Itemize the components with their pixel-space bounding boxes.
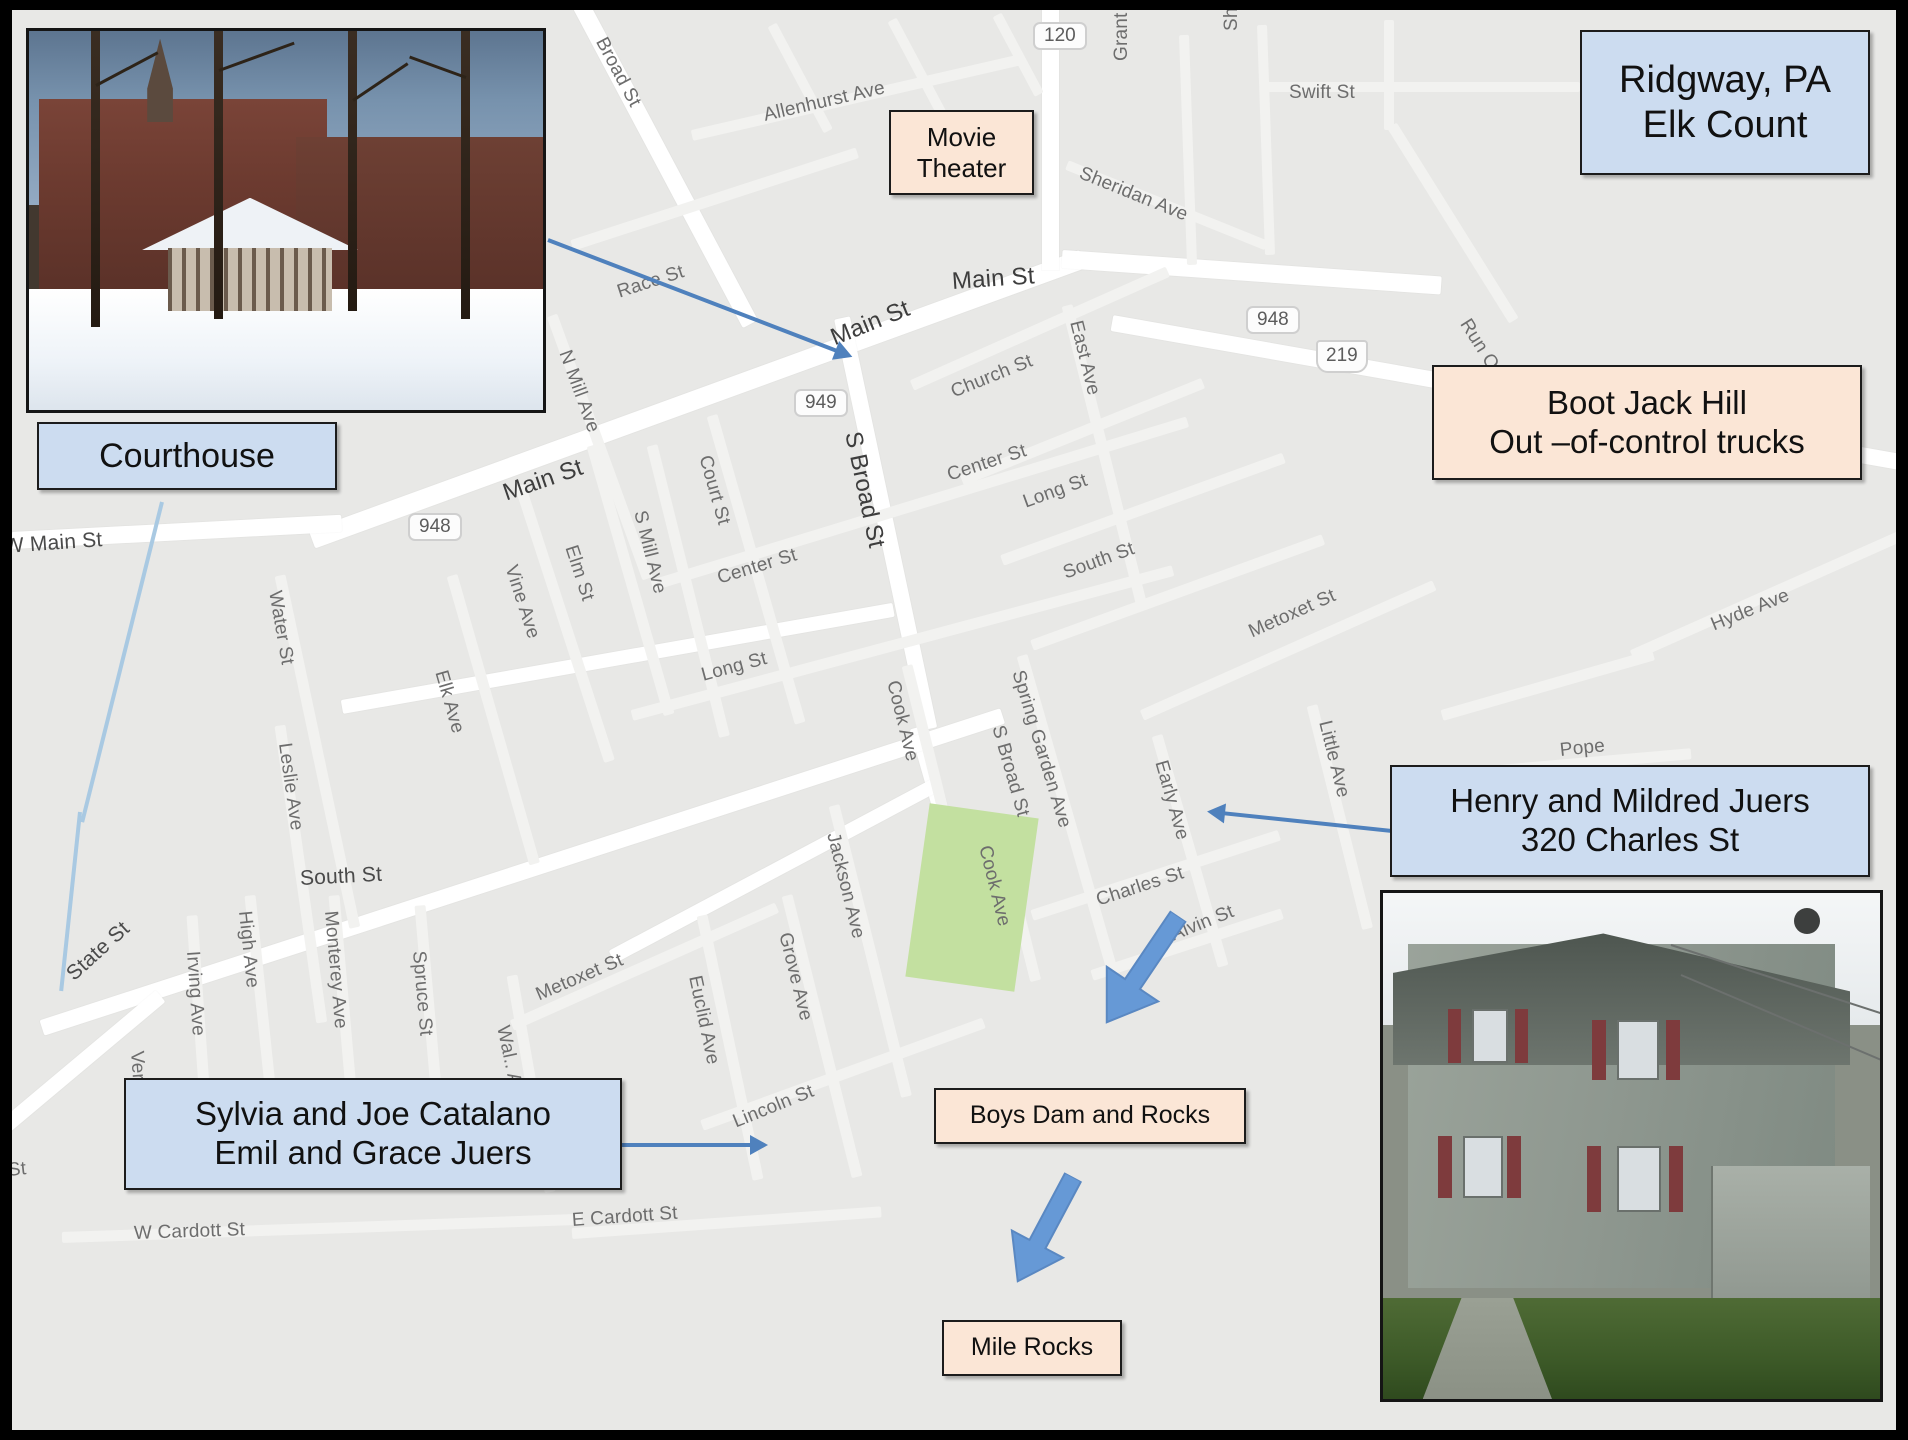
callout-mile-rocks[interactable]: Mile Rocks [942,1320,1122,1376]
callout-movie-theater[interactable]: Movie Theater [889,110,1034,195]
park-green-block [905,803,1038,992]
road-sherman-ave [1257,25,1275,255]
road-run-off-rd [1387,123,1518,324]
road-grove-ave [782,894,863,1178]
photo-house-shutter-6 [1507,1136,1521,1198]
photo-house-shutter-5 [1438,1136,1452,1198]
street-label-elm-st: Elm St [560,543,599,604]
photo-house-shutter-1 [1448,1009,1461,1063]
road-metoxet-st-east [1140,580,1437,720]
route-shield-949: 949 [794,389,848,417]
photo-house-window-lower-left [1463,1136,1503,1198]
street-label-long-st-1: Long St [1020,470,1090,514]
callout-catalano-line2: Emil and Grace Juers [214,1134,531,1173]
street-label-sherman-ave: Sherman Ave [1221,10,1243,31]
photo-house-porch [1711,1166,1870,1318]
callout-catalano-juers[interactable]: Sylvia and Joe Catalano Emil and Grace J… [124,1078,622,1190]
callout-juers-line2: 320 Charles St [1521,821,1739,860]
callout-courthouse[interactable]: Courthouse [37,422,337,490]
photo-courthouse-tree-1 [91,31,100,327]
road-south-state-corridor [40,708,1006,1035]
road-race-st [570,148,859,251]
callout-boot-jack-line1: Boot Jack Hill [1547,384,1747,423]
photo-house-window-upper-right [1617,1020,1659,1080]
road-spring-garden-ave [1017,654,1119,974]
road-swift-branch [1384,20,1394,130]
road-elk-ave [447,574,540,865]
photo-courthouse[interactable] [26,28,546,413]
road-n-broad-st [564,10,757,328]
road-long-connector-2 [609,777,942,963]
photo-courthouse-tree-2 [214,31,223,319]
arrow-courthouse-to-map [547,238,838,353]
arrow-to-mile-rocks [988,1162,1103,1299]
road-top-block-b [888,18,948,120]
photo-house-shutter-7 [1587,1146,1601,1212]
photo-house-window-upper-left [1472,1009,1508,1063]
street-label-vine-ave: Vine Ave [500,563,544,642]
road-vine-ave [515,484,615,763]
photo-house-shutter-3 [1592,1020,1606,1080]
photo-house-window-lower-right [1617,1146,1661,1212]
callout-juers-line1: Henry and Mildred Juers [1450,782,1810,821]
photo-house-shutter-4 [1666,1020,1680,1080]
road-w-cardott-st [62,1214,582,1243]
road-little-ave [1307,704,1373,930]
route-shield-120: 120 [1033,22,1087,50]
road-hyde-ave-west [1440,650,1655,721]
photo-courthouse-tree-3 [348,31,357,311]
river-line [80,502,164,823]
road-metoxet-st [510,903,779,1031]
road-grant-st [1179,35,1197,265]
road-sheridan-ave [1065,160,1268,250]
route-shield-219: 219 [1316,340,1368,373]
callout-movie-line1: Movie [927,122,996,153]
callout-courthouse-label: Courthouse [99,436,275,476]
photo-courthouse-gazebo [142,198,358,312]
photo-house-shutter-2 [1515,1009,1528,1063]
river-line-2 [59,812,82,991]
street-label-grant-st: Grant St [1111,10,1133,61]
callout-boys-dam-and-rocks[interactable]: Boys Dam and Rocks [934,1088,1246,1144]
callout-catalano-line1: Sylvia and Joe Catalano [195,1095,551,1134]
callout-mile-rocks-label: Mile Rocks [971,1333,1093,1363]
callout-boys-dam-label: Boys Dam and Rocks [970,1101,1210,1131]
callout-juers-320-charles[interactable]: Henry and Mildred Juers 320 Charles St [1390,765,1870,877]
callout-title-ridgway[interactable]: Ridgway, PA Elk Count [1580,30,1870,175]
road-long-connector [341,603,895,714]
map-canvas[interactable]: Broad St Allenhurst Ave Grant St Sherman… [12,10,1896,1430]
callout-title-line1: Ridgway, PA [1619,58,1831,103]
arrow-juers-to-map [1223,811,1402,834]
callout-title-line2: Elk Count [1643,103,1808,148]
route-shield-948-west: 948 [408,513,462,541]
road-w-main-st [12,515,342,549]
callout-movie-line2: Theater [917,153,1007,184]
photo-house-shutter-8 [1669,1146,1683,1212]
road-swift-st [1260,82,1580,92]
road-e-cardott-st [572,1206,882,1239]
street-label-edge-st: St [12,1158,27,1182]
street-label-s-broad-st-2: S Broad St [986,723,1033,819]
road-hyde-ave [1630,516,1896,660]
photo-house-320-charles-st[interactable] [1380,890,1883,1402]
slide-frame: Broad St Allenhurst Ave Grant St Sherman… [0,0,1908,1440]
street-label-state-st: State St [62,917,135,986]
callout-boot-jack-line2: Out –of-control trucks [1489,423,1804,462]
callout-boot-jack-hill[interactable]: Boot Jack Hill Out –of-control trucks [1432,365,1862,480]
route-shield-948-east: 948 [1246,306,1300,334]
arrow-catalano-to-map [612,1143,752,1147]
